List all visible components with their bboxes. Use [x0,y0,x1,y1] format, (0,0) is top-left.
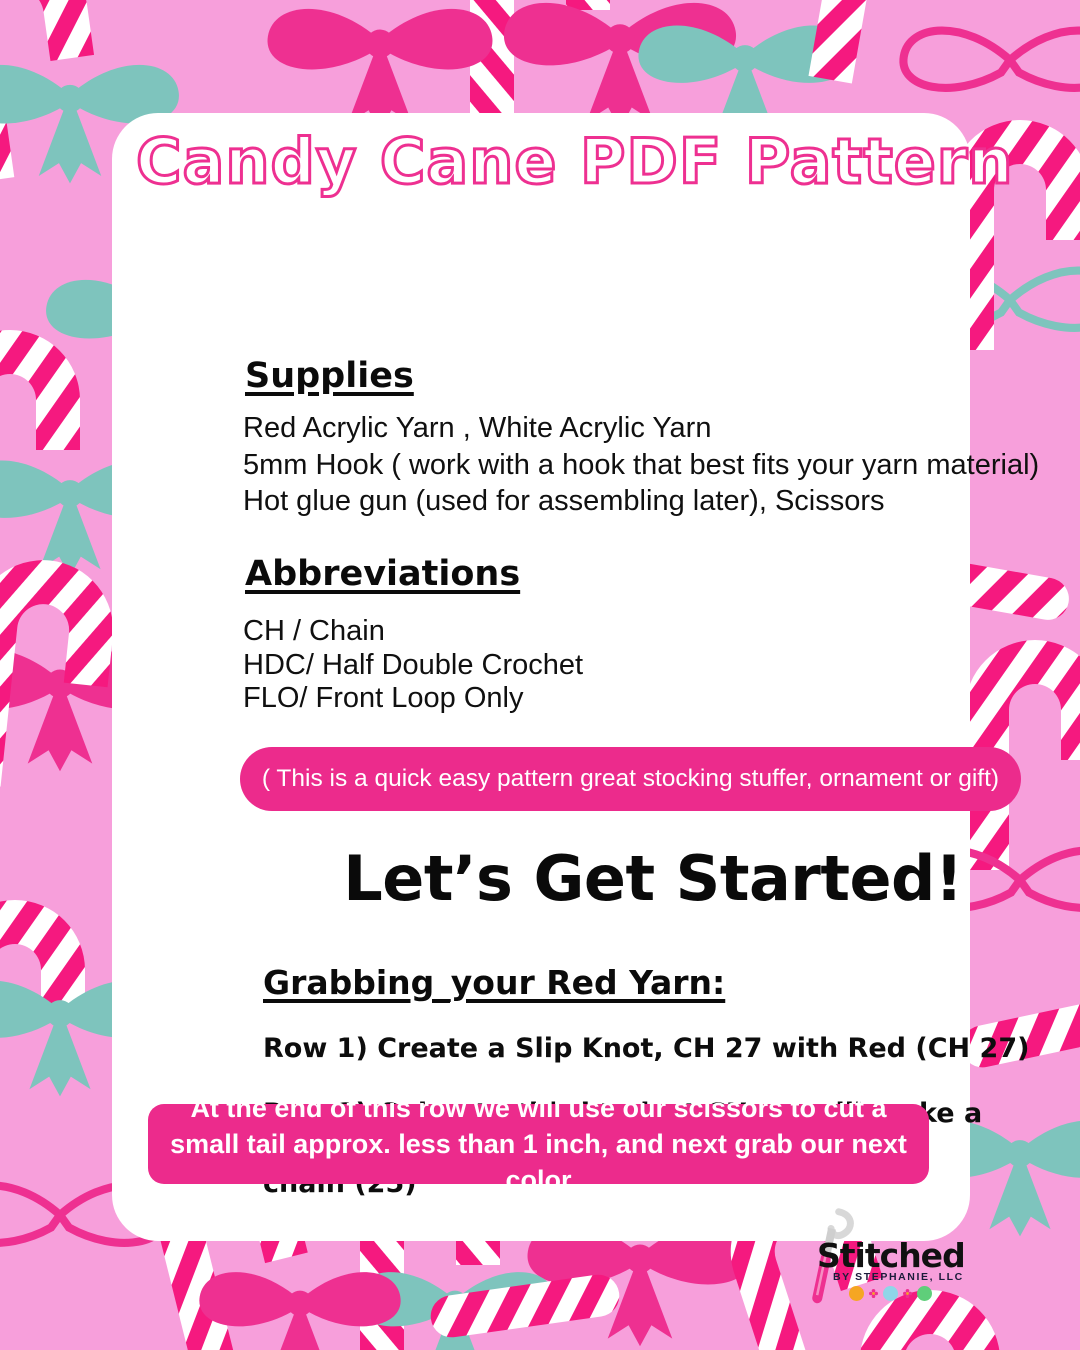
abbreviation-line: CH / Chain [243,615,583,649]
flower-icon [903,1289,912,1298]
supplies-list: Red Acrylic Yarn , White Acrylic Yarn 5m… [243,410,1039,520]
abbreviations-list: CH / Chain HDC/ Half Double Crochet FLO/… [243,615,583,716]
logo-dot-blue [883,1286,898,1301]
abbreviations-heading: Abbreviations [245,554,520,594]
abbreviation-line: HDC/ Half Double Crochet [243,649,583,683]
logo-wordmark: Stitched [817,1236,965,1275]
logo-subtitle: BY STEPHANIE, LLC [833,1271,964,1283]
logo-dot-orange [849,1286,864,1301]
instructions-heading: Grabbing_your Red Yarn: [263,963,725,1002]
logo-dot-green [917,1286,932,1301]
content-card: Candy Cane PDF Pattern Supplies Red Acry… [112,113,970,1241]
logo-dots [849,1286,932,1301]
lets-get-started-heading: Let’s Get Started! [224,842,1080,915]
page-title: Candy Cane PDF Pattern [136,129,948,194]
supplies-line: Hot glue gun (used for assembling later)… [243,483,1039,520]
instruction-row-1: Row 1) Create a Slip Knot, CH 27 with Re… [263,1031,1029,1066]
note-banner-bottom: At the end of this row we will use our s… [148,1104,929,1184]
supplies-line: 5mm Hook ( work with a hook that best fi… [243,447,1039,484]
brand-logo: Stitched BY STEPHANIE, LLC [795,1208,965,1314]
note-banner-top: ( This is a quick easy pattern great sto… [240,747,1021,811]
supplies-line: Red Acrylic Yarn , White Acrylic Yarn [243,410,1039,447]
supplies-heading: Supplies [245,356,414,396]
abbreviation-line: FLO/ Front Loop Only [243,682,583,716]
flower-icon [869,1289,878,1298]
pattern-page: Candy Cane PDF Pattern Supplies Red Acry… [0,0,1080,1350]
